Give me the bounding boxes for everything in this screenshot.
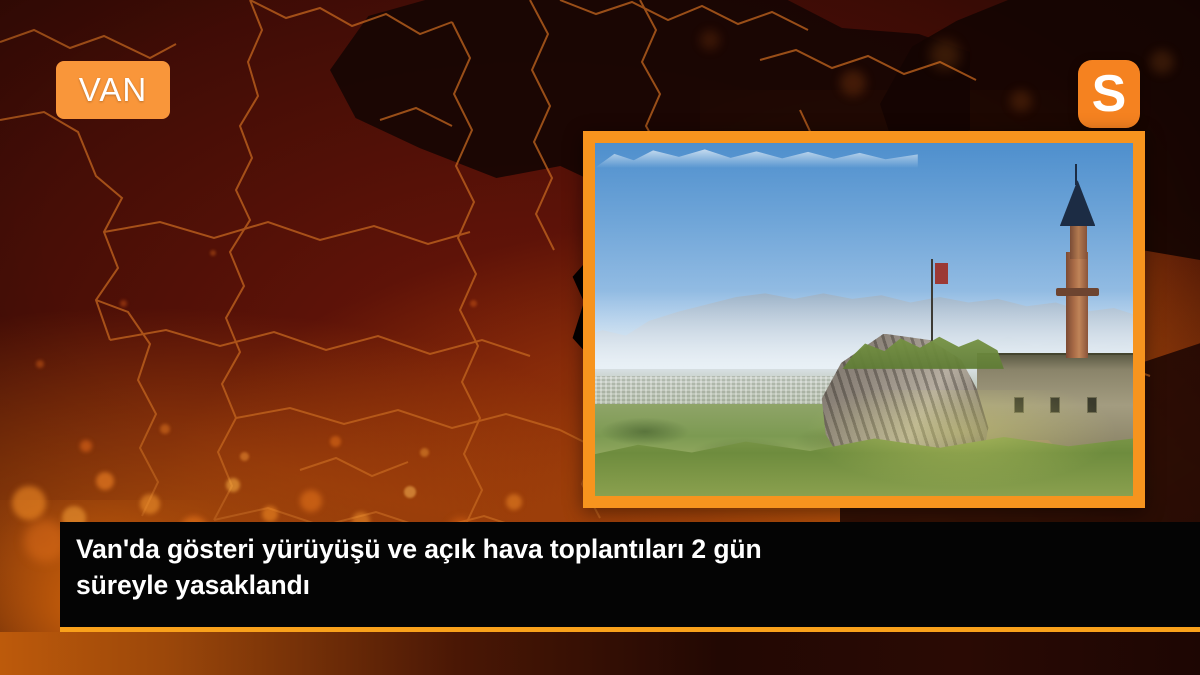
bottom-strip	[0, 632, 1200, 675]
news-photo	[595, 143, 1133, 496]
photo-minaret-spire	[1075, 164, 1077, 185]
headline-line-1: Van'da gösteri yürüyüşü ve açık hava top…	[76, 532, 1170, 568]
province-tag: VAN	[56, 61, 170, 119]
headline: Van'da gösteri yürüyüşü ve açık hava top…	[76, 532, 1170, 603]
photo-minaret-shaft	[1066, 252, 1089, 358]
photo-frame	[583, 131, 1145, 508]
headline-line-2: süreyle yasaklandı	[76, 568, 1170, 604]
photo-minaret-balcony	[1056, 288, 1099, 296]
photo-flag	[935, 263, 948, 284]
photo-sunlight-highlight	[789, 390, 1133, 496]
caption-bar: Van'da gösteri yürüyüşü ve açık hava top…	[60, 522, 1200, 627]
brand-logo-letter: S	[1092, 68, 1127, 120]
brand-s-logo-icon[interactable]: S	[1078, 60, 1140, 128]
photo-minaret-upper	[1070, 221, 1087, 260]
share-card: VAN S	[0, 0, 1200, 675]
province-tag-label: VAN	[79, 71, 147, 109]
